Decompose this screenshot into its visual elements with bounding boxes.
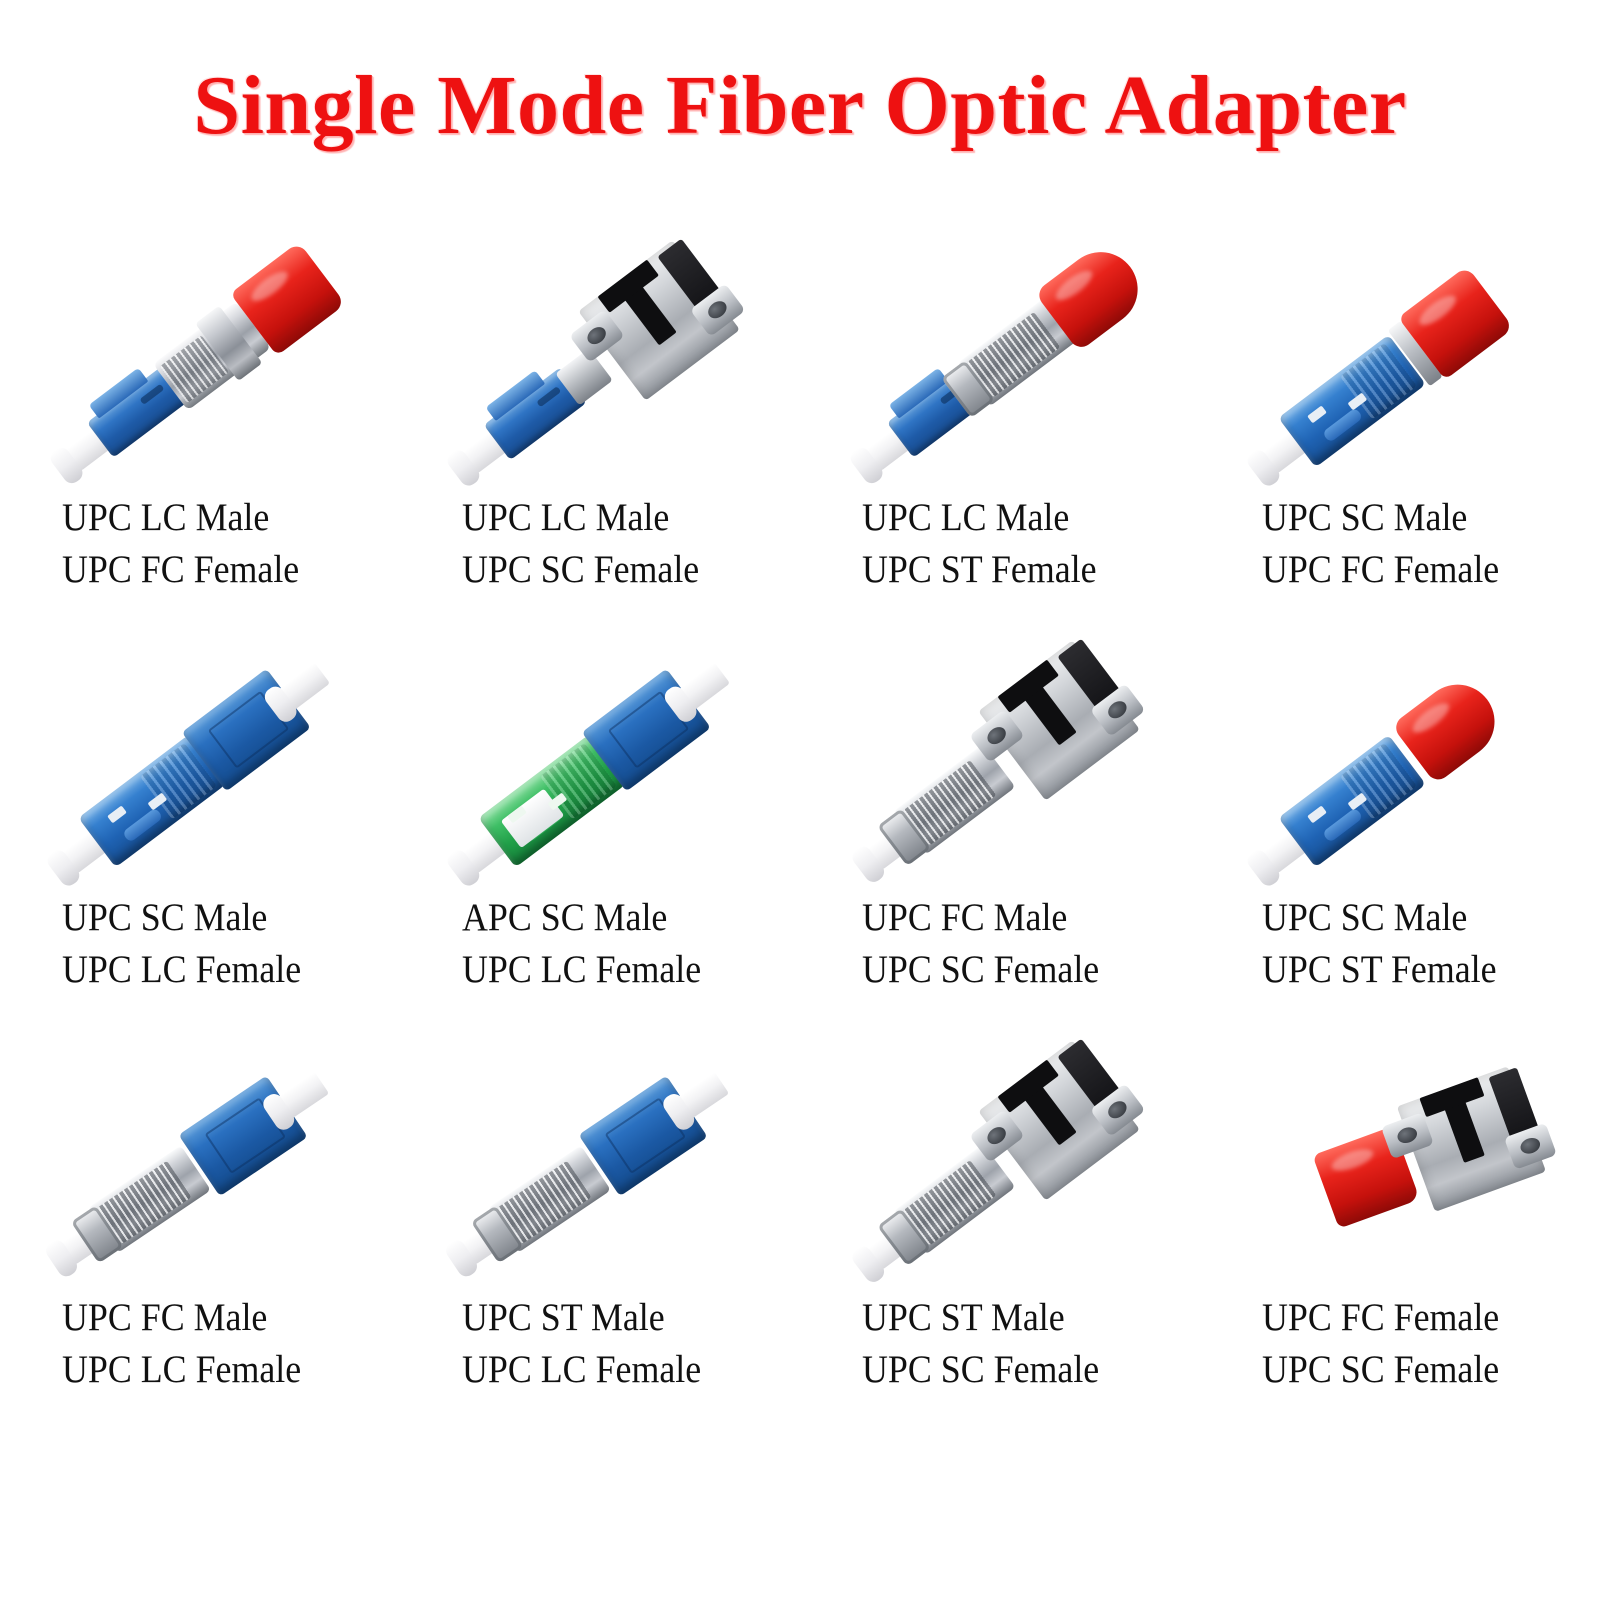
- sc-key-rib: [1322, 807, 1363, 843]
- caption-male-line: UPC SC Male: [1262, 492, 1575, 544]
- connector-assembly-sc-lc: [39, 627, 360, 902]
- ferrule-dust-plug-icon: [276, 1072, 329, 1119]
- apc-shutter-window: [501, 789, 565, 849]
- adapter-caption-9: UPC FC Male UPC LC Female: [62, 1292, 375, 1396]
- caption-male-line: UPC SC Male: [1262, 892, 1575, 944]
- connector-assembly-st-lc: [436, 1033, 763, 1297]
- adapter-cell-12[interactable]: UPC FC Female UPC SC Female: [1200, 1030, 1600, 1430]
- adapter-caption-10: UPC ST Male UPC LC Female: [462, 1292, 775, 1396]
- adapter-image-2: [400, 230, 800, 500]
- caption-female-line: UPC LC Female: [462, 1344, 775, 1396]
- adapter-cell-11[interactable]: UPC ST Male UPC SC Female: [800, 1030, 1200, 1430]
- adapter-caption-4: UPC SC Male UPC FC Female: [1262, 492, 1575, 596]
- caption-female-line: UPC LC Female: [462, 944, 775, 996]
- adapter-image-1: [0, 230, 400, 500]
- adapter-cell-9[interactable]: UPC FC Male UPC LC Female: [0, 1030, 400, 1430]
- adapter-caption-1: UPC LC Male UPC FC Female: [62, 492, 375, 596]
- adapter-cell-3[interactable]: UPC LC Male UPC ST Female: [800, 230, 1200, 630]
- adapter-caption-11: UPC ST Male UPC SC Female: [862, 1292, 1175, 1396]
- adapter-image-6: [400, 630, 800, 900]
- caption-male-line: UPC FC Male: [862, 892, 1175, 944]
- caption-male-line: UPC FC Female: [1262, 1292, 1575, 1344]
- connector-assembly-lc-st: [839, 227, 1160, 502]
- adapter-image-11: [800, 1030, 1200, 1300]
- caption-male-line: UPC FC Male: [62, 1292, 375, 1344]
- adapter-image-4: [1200, 230, 1600, 500]
- adapter-caption-8: UPC SC Male UPC ST Female: [1262, 892, 1575, 996]
- caption-male-line: UPC LC Male: [62, 492, 375, 544]
- caption-male-line: APC SC Male: [462, 892, 775, 944]
- caption-female-line: UPC FC Female: [62, 544, 375, 596]
- fc-male-knurled-nut: [88, 1145, 211, 1252]
- caption-female-line: UPC SC Female: [462, 544, 775, 596]
- sc-key-rib: [1322, 407, 1363, 443]
- caption-female-line: UPC LC Female: [62, 1344, 375, 1396]
- adapter-image-12: [1200, 1030, 1600, 1300]
- adapter-caption-6: APC SC Male UPC LC Female: [462, 892, 775, 996]
- page-title-text: Single Mode Fiber Optic Adapter: [193, 62, 1406, 150]
- adapter-caption-3: UPC LC Male UPC ST Female: [862, 492, 1175, 596]
- adapter-image-10: [400, 1030, 800, 1300]
- ferrule-dust-plug-icon: [676, 1072, 729, 1119]
- connector-assembly-sc-fc: [1239, 227, 1560, 502]
- connector-assembly-fc-sc-hybrid: [1229, 1063, 1572, 1266]
- connector-assembly-lc-fc: [39, 227, 360, 502]
- caption-male-line: UPC SC Male: [62, 892, 375, 944]
- adapter-image-7: [800, 630, 1200, 900]
- caption-male-line: UPC LC Male: [862, 492, 1175, 544]
- caption-male-line: UPC LC Male: [462, 492, 775, 544]
- flange-hole-bottom: [1090, 1083, 1146, 1137]
- flange-hole-bottom: [1504, 1123, 1557, 1170]
- sc-male-body: [1278, 335, 1426, 468]
- st-male-bayonet-nut: [488, 1145, 611, 1252]
- adapter-cell-6[interactable]: APC SC Male UPC LC Female: [400, 630, 800, 1030]
- connector-assembly-apc-sc-lc: [439, 627, 760, 902]
- caption-female-line: UPC ST Female: [1262, 944, 1575, 996]
- flange-hole-bottom: [690, 283, 746, 337]
- connector-assembly-lc-sc: [439, 227, 760, 502]
- caption-female-line: UPC SC Female: [862, 1344, 1175, 1396]
- caption-male-line: UPC ST Male: [462, 1292, 775, 1344]
- adapter-cell-2[interactable]: UPC LC Male UPC SC Female: [400, 230, 800, 630]
- ferrule-dust-plug-icon: [278, 663, 330, 711]
- caption-female-line: UPC SC Female: [1262, 1344, 1575, 1396]
- caption-female-line: UPC FC Female: [1262, 544, 1575, 596]
- adapter-grid: UPC LC Male UPC FC Female: [0, 230, 1600, 1600]
- sc-male-body: [1278, 735, 1426, 868]
- adapter-cell-10[interactable]: UPC ST Male UPC LC Female: [400, 1030, 800, 1430]
- adapter-image-8: [1200, 630, 1600, 900]
- adapter-cell-7[interactable]: UPC FC Male UPC SC Female: [800, 630, 1200, 1030]
- flange-hole-bottom: [1090, 683, 1146, 737]
- adapter-cell-8[interactable]: UPC SC Male UPC ST Female: [1200, 630, 1600, 1030]
- adapter-image-9: [0, 1030, 400, 1300]
- adapter-cell-5[interactable]: UPC SC Male UPC LC Female: [0, 630, 400, 1030]
- caption-male-line: UPC ST Male: [862, 1292, 1175, 1344]
- connector-assembly-sc-st: [1239, 627, 1560, 902]
- adapter-cell-4[interactable]: UPC SC Male UPC FC Female: [1200, 230, 1600, 630]
- adapter-caption-2: UPC LC Male UPC SC Female: [462, 492, 775, 596]
- adapter-image-5: [0, 630, 400, 900]
- flange-hole-top: [569, 309, 625, 363]
- adapter-caption-12: UPC FC Female UPC SC Female: [1262, 1292, 1575, 1396]
- adapter-caption-7: UPC FC Male UPC SC Female: [862, 892, 1175, 996]
- ferrule-dust-plug-icon: [678, 663, 730, 711]
- caption-female-line: UPC ST Female: [862, 544, 1175, 596]
- caption-female-line: UPC SC Female: [862, 944, 1175, 996]
- adapter-caption-5: UPC SC Male UPC LC Female: [62, 892, 375, 996]
- product-image-canvas: Single Mode Fiber Optic Adapter UPC LC M…: [0, 0, 1600, 1600]
- caption-female-line: UPC LC Female: [62, 944, 375, 996]
- sc-key-rib: [122, 807, 163, 843]
- page-title: Single Mode Fiber Optic Adapter: [0, 62, 1600, 150]
- connector-assembly-fc-lc: [36, 1033, 363, 1297]
- adapter-image-3: [800, 230, 1200, 500]
- connector-assembly-fc-sc: [839, 627, 1160, 902]
- connector-assembly-st-sc: [839, 1027, 1160, 1302]
- adapter-cell-1[interactable]: UPC LC Male UPC FC Female: [0, 230, 400, 630]
